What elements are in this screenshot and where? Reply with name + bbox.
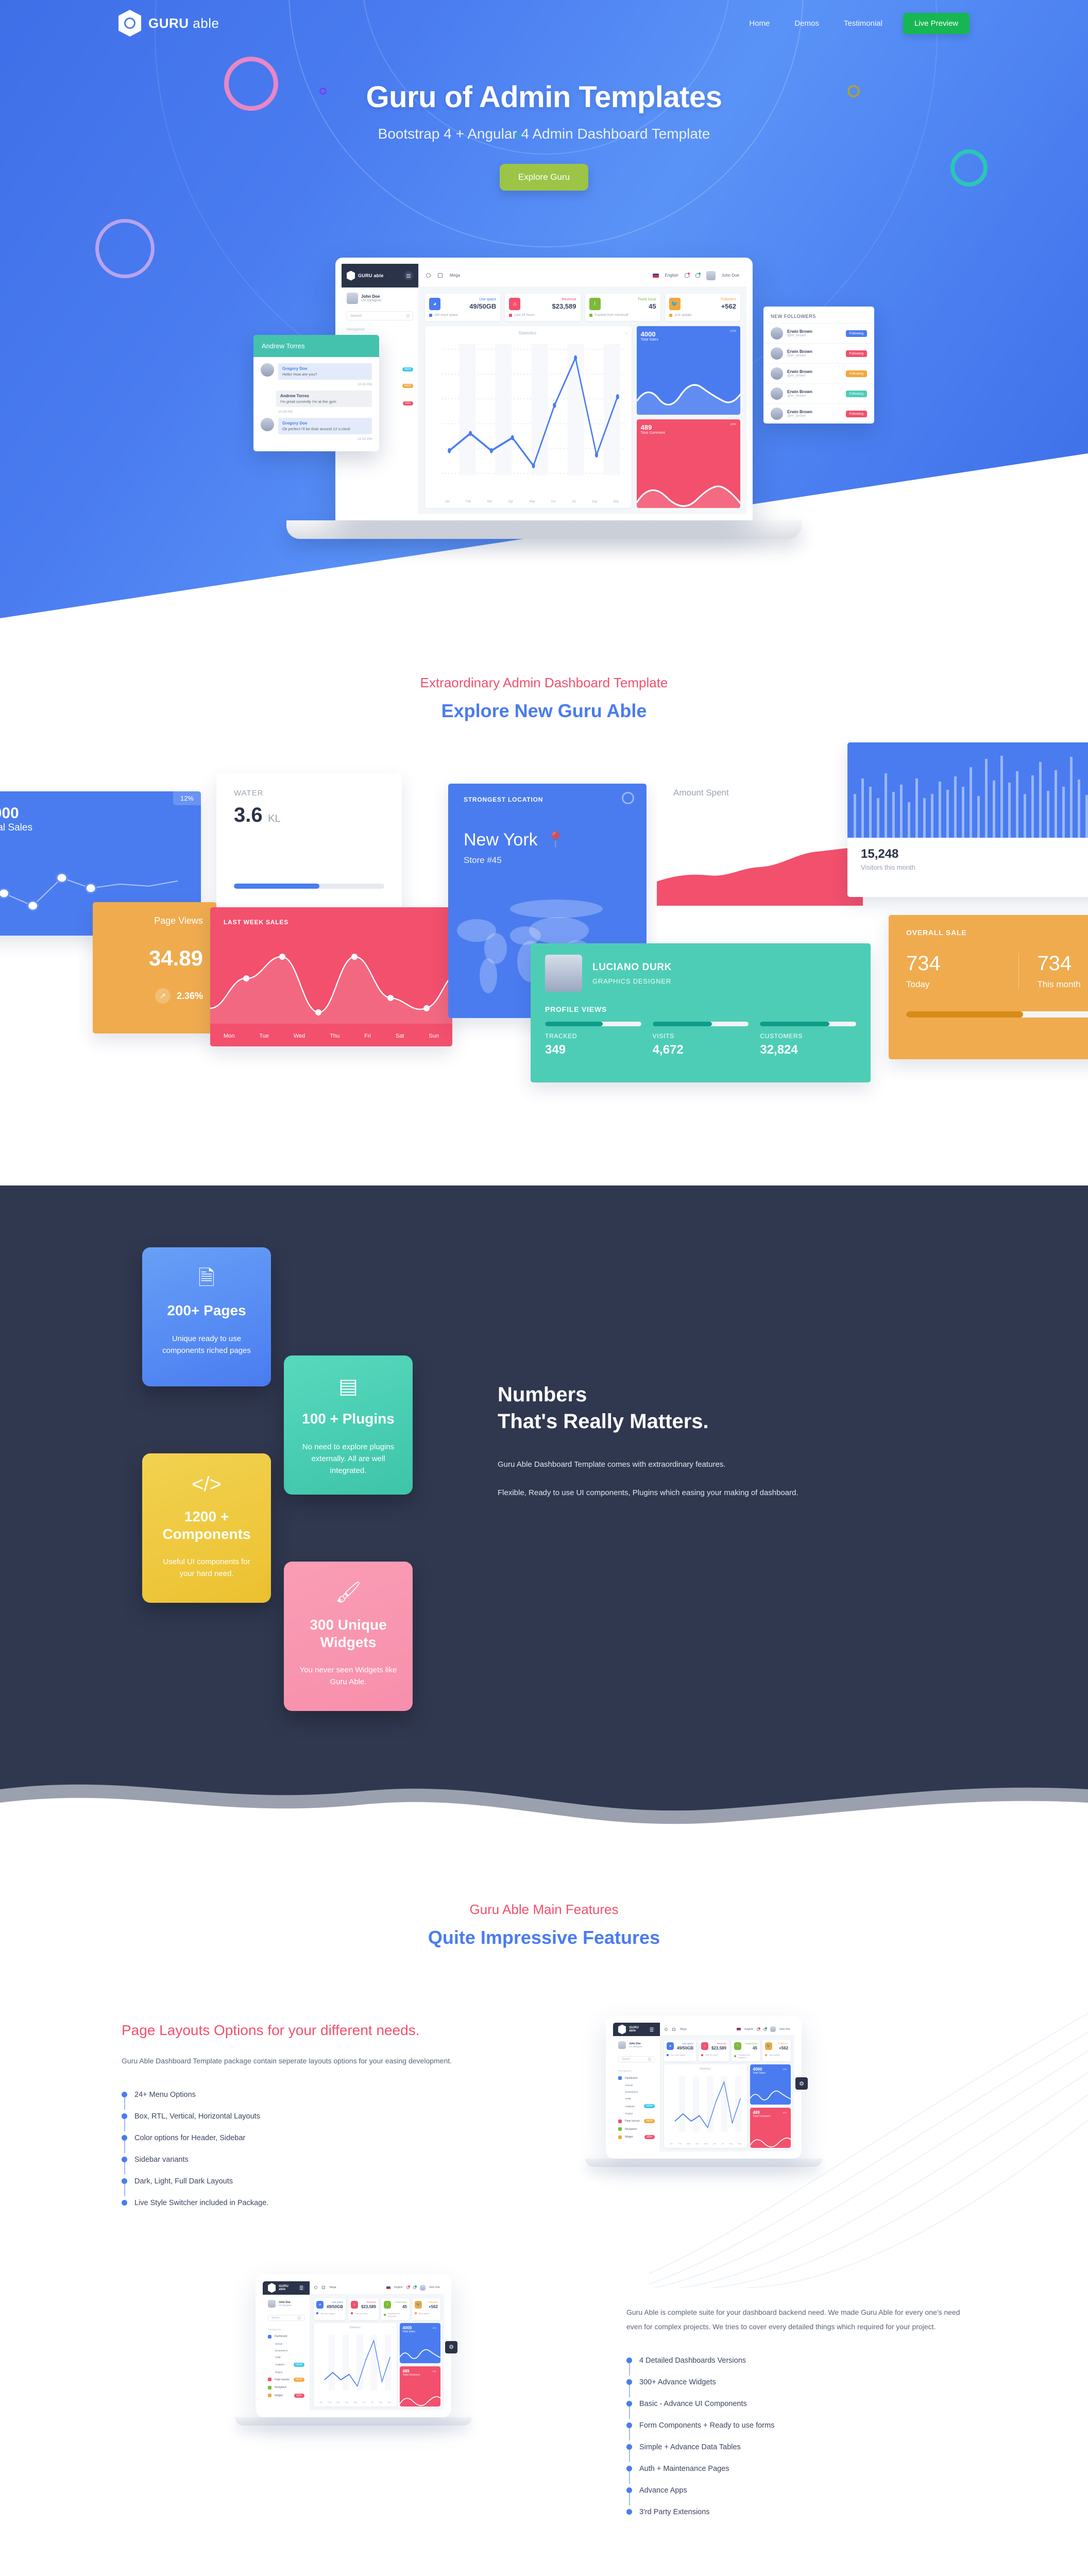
bullet-dot-icon [626,2401,632,2406]
x-tick: Aug [729,2142,733,2145]
refresh-icon[interactable] [622,792,634,804]
wave-divider [0,1742,1088,1845]
feature-block-suite: GURU able John Doe UX Designer Search Na… [122,2274,966,2516]
explore-kicker: Extraordinary Admin Dashboard Template [0,675,1088,691]
chat-widget: Andrew Torres Gregory Doe Hello! How are… [253,335,379,451]
feature-block-1-paragraph: Guru Able Dashboard Template package con… [122,2054,462,2068]
day-tick: Thu [330,1033,339,1039]
dashboard-body: ◕ Use space 49/50GB Get more space [419,287,746,514]
list-item: Color options for Header, Sidebar [122,2134,462,2156]
mega-menu-label[interactable]: Mega [330,2286,336,2289]
feature-block-1-heading: Page Layouts Options for your different … [122,2021,462,2040]
search-icon[interactable] [665,2028,668,2031]
brand-name: GURU able [148,15,219,31]
chat-header: Andrew Torres [253,335,379,357]
sidebar-item-ecommerce[interactable]: Ecommerce [268,2347,304,2354]
chevron-left-icon[interactable]: ‹ [743,2067,744,2071]
badge-new: NEW [644,2119,655,2123]
sidebar-search-input[interactable]: Search [618,2056,655,2062]
overall-sale-today-label: Today [906,979,1018,990]
menu-toggle-icon[interactable] [649,2026,655,2032]
stat-value: $23,589 [361,2304,376,2309]
badge-new: NEW [644,2104,655,2108]
metric-label: TRACKED [545,1032,641,1040]
settings-gear-icon[interactable]: ⚙ [795,2077,808,2090]
badge-count: 100+ [294,2394,304,2398]
chat-text: I'm great currently I'm at the gym [280,399,368,404]
chart-title: Statestics [519,331,537,335]
sidebar-item-page-layouts[interactable]: Page layoutsNEW [268,2376,304,2384]
message-bell-icon[interactable] [763,2028,767,2031]
mini-card-total-sales: 12% 4000 Total Sales [637,326,740,415]
chevron-left-icon[interactable]: ‹ [393,2326,394,2329]
sidebar-search-input[interactable]: Search [268,2315,304,2321]
tablet-mockup-top: GURU able John Doe UX Designer Search Na… [606,2015,802,2159]
stat-foot: Tracked from microsoft [738,2054,757,2059]
list-item: Dark, Light, Full Dark Layouts [122,2177,462,2199]
hero-title: Guru of Admin Templates [0,80,1088,114]
x-tick: May [353,2401,358,2403]
profile-name[interactable]: John Doe [429,2286,440,2289]
language-label[interactable]: English [744,2028,753,2031]
sidebar-item-analytics[interactable]: AnalyticsNEW [268,2361,304,2369]
stat-card-row: ◕ Use space 49/50GB Get more space [425,294,740,321]
sidebar-item-default[interactable]: Default [618,2082,655,2089]
bullet-dot-icon [626,2379,632,2385]
overall-sale-today-value: 734 [906,952,1018,975]
badge-new: NEW [294,2378,304,2382]
sidebar-search-placeholder: Search [271,2316,280,2319]
x-tick: Jul [371,2401,373,2403]
chat-body: Gregory Doe Hello! How are you? 10:45 PM… [253,357,379,451]
sidebar-item-widget[interactable]: Widget100+ [618,2133,655,2141]
day-tick: Sat [396,1033,404,1039]
language-label[interactable]: English [394,2286,402,2289]
follow-button[interactable]: Following [846,370,867,377]
water-unit: KL [268,813,280,824]
dashboard-preview: GURU able John Doe UX Designer Search [342,264,746,514]
hero-section: GURU able Home Demos Testimonial Live Pr… [0,0,1088,639]
follower-row: Erwin Brown @er_brown Following [763,343,874,363]
sidebar-item-dashboard[interactable]: Dashboard [618,2074,655,2082]
metric-progress-bar [653,1022,749,1026]
statistics-chart-card: Statestics‹ [425,326,632,508]
chat-message: Gregory Doe Ok perfect I'll be thair aro… [261,418,372,434]
flag-icon [653,274,659,278]
menu-toggle-icon[interactable] [404,271,413,280]
x-tick: Aug [592,500,598,503]
numbers-card-grid: 🗎 200+ Pages Unique ready to use compone… [122,1247,482,1737]
live-preview-button[interactable]: Live Preview [903,13,970,34]
top-navigation: GURU able Home Demos Testimonial Live Pr… [0,0,1088,46]
avatar [347,293,358,304]
list-item: Box, RTL, Vertical, Horizontal Layouts [122,2112,462,2134]
nav-link-testimonial[interactable]: Testimonial [840,16,887,31]
x-tick: Jan [445,500,450,503]
sidebar-item-widget[interactable]: Widget100+ [268,2392,304,2400]
stat-value: 45 [395,2304,407,2309]
message-bell-icon[interactable] [695,273,700,278]
tablet-base [585,2159,822,2167]
laptop-screen: GURU able John Doe UX Designer Search [335,258,753,520]
overall-sale-month-value: 734 [1038,952,1088,975]
new-followers-title: NEW FOLLOWERS [763,307,874,323]
sidebar-item-crm[interactable]: CRM [618,2095,655,2102]
day-tick: Sun [429,1033,439,1039]
sidebar-search-input[interactable]: Search [347,311,413,320]
badge-new: NEW [294,2363,304,2367]
mini-card-total-comment: 15% 489 Total Comment [637,419,740,508]
fullscreen-icon[interactable] [672,2028,675,2031]
explore-heading-section: Extraordinary Admin Dashboard Template E… [0,639,1088,742]
statistics-line-chart [430,338,627,500]
sidebar-item-default[interactable]: Default [268,2341,304,2347]
mini-card-percent: 15% [432,2370,436,2372]
stat-foot: Just update [419,2312,430,2315]
search-icon[interactable] [314,2286,317,2289]
avatar[interactable] [770,2026,776,2032]
last-week-sales-chart [210,946,452,1024]
list-item-label: Box, RTL, Vertical, Horizontal Layouts [134,2112,260,2121]
stat-foot: Get more space [434,313,458,317]
settings-gear-icon[interactable]: ⚙ [445,2341,457,2353]
stat-foot: Last 24 hours [514,313,534,317]
notification-bell-icon[interactable] [757,2028,760,2031]
page-views-label: Page Views [106,916,203,926]
sidebar-item-label: Dashboard [275,2335,287,2338]
mini-card-label: Total Comment [641,431,736,435]
follow-button[interactable]: Following [846,391,867,397]
features-title: Quite Impressive Features [0,1927,1088,1948]
follower-name: Erwin Brown [787,329,812,334]
new-followers-widget: NEW FOLLOWERS Erwin Brown @er_brown Foll… [763,307,874,423]
avatar [771,327,783,340]
brand-name-bold: GURU [148,15,189,31]
overall-sale-caption: OVERALL SALE [906,928,1088,937]
sidebar-item-dashboard[interactable]: Dashboard [268,2333,304,2341]
sidebar-item-project[interactable]: Project [618,2110,655,2117]
profile-views-caption: PROFILE VIEWS [545,1005,856,1013]
fullscreen-icon[interactable] [322,2286,325,2289]
x-tick: Apr [345,2401,348,2403]
features-section: Guru Able Main Features Quite Impressive… [0,1845,1088,2576]
water-caption: WATER [234,789,384,798]
flag-icon [386,2286,390,2289]
number-card-title: 1200 + Components [156,1508,258,1543]
avatar [261,418,274,431]
sidebar-user[interactable]: John Doe UX Designer [342,287,418,309]
explore-title: Explore New Guru Able [0,700,1088,722]
twitter-icon: 🐦 [415,2301,422,2309]
sidebar-nav-label: Navigation [263,2326,310,2333]
location-city: New York [464,830,538,850]
numbers-section: 🗎 200+ Pages Unique ready to use compone… [0,1185,1088,1845]
profile-name[interactable]: John Doe [722,273,739,278]
bullet-dot-icon [122,2113,127,2119]
stat-foot: Just update [769,2054,780,2056]
home-icon: ⌂ [351,2301,358,2309]
statistics-line-chart [667,2074,744,2142]
mini-card-percent: 15% [783,2111,787,2114]
bullet-dot-icon [122,2092,127,2097]
x-tick: Sep [738,2142,741,2145]
x-tick: Jun [363,2401,366,2403]
hero-laptop-mockup: GURU able John Doe UX Designer Search [335,258,753,539]
list-item-label: Live Style Switcher included in Package. [134,2199,268,2207]
list-item-label: 24+ Menu Options [134,2091,196,2099]
widget-overall-sale: OVERALL SALE 734 Today 734 This month [889,915,1088,1059]
bullet-dot-icon [626,2487,632,2493]
badge-count: 100+ [644,2135,655,2139]
mini-card-value: 4000 [641,330,736,338]
stat-value: 45 [638,302,656,310]
overall-sale-progress-bar [906,1011,1088,1018]
sidebar-item-label: Ecommerce [625,2091,638,2093]
last-week-sales-days: Mon Tue Wed Thu Fri Sat Sun [224,1033,439,1039]
menu-toggle-icon[interactable] [299,2285,304,2291]
profile-role: GRAPHICS DESIGNER [592,977,672,985]
mini-card-label: Total Sales [753,2072,788,2075]
chat-bubble: Gregory Doe Ok perfect I'll be thair aro… [278,418,372,434]
day-tick: Mon [224,1033,234,1039]
sparkline [637,467,740,508]
mini-card-label: Total Sales [402,2330,438,2333]
flag-icon [737,2028,741,2030]
pie-chart-icon: ◕ [667,2042,674,2050]
chevron-left-icon[interactable]: ‹ [625,331,627,335]
follower-handle: @er_brown [787,374,812,378]
avatar[interactable] [420,2285,426,2291]
sidebar-user-role: UX Designer [629,2045,642,2048]
x-tick: Jul [572,500,576,503]
trend-up-icon: ↗ [155,988,171,1004]
feature-block-2-copy: Guru Able is complete suite for your das… [606,2274,966,2516]
sidebar-item-label: Ecommerce [275,2349,288,2352]
stat-foot: Get more space [320,2312,335,2315]
x-tick: Jan [670,2142,673,2145]
mini-card-percent: 12% [783,2068,787,2071]
number-card-widgets: 🖌 300 Unique Widgets You never seen Widg… [284,1562,413,1711]
list-item: Live Style Switcher included in Package. [122,2199,462,2207]
stat-label: Fixed issue [395,2301,407,2303]
bullet-dot-icon [122,2200,127,2206]
sidebar-nav-label: Navigation [342,326,418,333]
sidebar-search-placeholder: Search [350,314,362,318]
number-card-title: 300 Unique Widgets [297,1616,399,1651]
sidebar-item-label: Navigation [275,2386,287,2389]
x-tick: Feb [328,2401,331,2403]
follow-button[interactable]: Following [846,330,867,337]
code-icon: </> [156,1474,258,1495]
sidebar-item-analytics[interactable]: AnalyticsNEW [618,2102,655,2110]
list-item: Form Components + Ready to use forms [626,2421,966,2443]
dashboard-topbar: Mega English John Doe [419,264,746,287]
list-item-label: Dark, Light, Full Dark Layouts [134,2177,233,2185]
search-icon [406,314,410,317]
page-views-value: 34.89 [106,946,203,971]
number-card-plugins: ▤ 100 + Plugins No need to explore plugi… [284,1355,413,1495]
x-tick: Feb [678,2142,682,2145]
sidebar-item-label: Widget [275,2394,283,2397]
list-item: Sidebar variants [122,2156,462,2177]
notification-bell-icon[interactable] [685,273,689,278]
sidebar-user-role: UX Designer [279,2304,292,2307]
chat-sender: Gregory Doe [282,421,368,426]
hero-subtitle: Bootstrap 4 + Angular 4 Admin Dashboard … [0,126,1088,142]
mini-card-label: Total Sales [641,338,736,342]
sidebar-item-navigation[interactable]: Navigation [268,2384,304,2392]
x-tick: Jun [551,500,556,503]
chat-bubble: Gregory Doe Hello! How are you? [278,363,372,380]
list-item-label: Simple + Advance Data Tables [639,2443,741,2451]
search-icon[interactable] [426,273,431,278]
x-tick: Sep [387,2401,391,2403]
follower-handle: @er_brown [787,334,812,337]
bullet-dot-icon [626,2509,632,2515]
chat-sender: Andrew Torres [280,394,368,398]
laptop-base [286,520,802,539]
avatar [771,367,783,380]
brand-logo[interactable]: GURU able [118,10,219,37]
map-pin-icon: 📍 [546,831,565,849]
chat-text: Ok perfect I'll be thair around 12 o,clo… [282,427,368,431]
explore-guru-button[interactable]: Explore Guru [500,164,588,191]
sidebar-logo-text: GURU able [358,273,384,278]
chat-text: Hello! How are you? [282,372,368,377]
list-item: Simple + Advance Data Tables [626,2443,966,2465]
mega-menu-label[interactable]: Mega [680,2028,687,2031]
sidebar-item-label: Project [275,2371,282,2374]
stat-label: Fixed issue [638,298,656,301]
profile-metrics: TRACKED 349 VISITS 4,672 CUSTOMERS 32,82… [545,1022,856,1057]
visitors-value: 15,248 [861,847,915,861]
bullet-dot-icon [626,2466,632,2471]
follower-name: Erwin Brown [787,369,812,374]
list-item-label: Form Components + Ready to use forms [639,2421,774,2430]
follow-button[interactable]: Following [846,350,867,357]
message-bell-icon[interactable] [413,2286,416,2289]
bullet-dot-icon [626,2444,632,2450]
stat-foot: Tracked from microsoft [388,2312,407,2317]
visitors-bar-chart [847,742,1088,838]
profile-name[interactable]: John Doe [779,2028,790,2031]
hexagon-logo-icon [118,10,141,37]
hexagon-logo-icon [268,2283,276,2293]
follower-row: Erwin Brown @er_brown Following [763,363,874,383]
fullscreen-icon[interactable] [438,273,443,278]
stat-label: Revenue [361,2301,376,2303]
chat-message: Andrew Torres I'm great currently I'm at… [261,391,372,407]
stat-label: Followers [721,298,736,301]
stat-label: Revenue [552,298,576,301]
follower-handle: @er_brown [787,354,812,358]
x-tick: Apr [508,500,513,503]
stat-value: 49/50GB [469,302,496,310]
mega-menu-label[interactable]: Mega [450,273,460,278]
topbar-right: English John Doe [653,271,740,280]
total-sales-label: Total Sales [0,822,185,834]
number-card-desc: Unique ready to use components riched pa… [156,1333,258,1357]
metric-value: 32,824 [760,1043,856,1057]
alert-icon: ! [384,2301,391,2309]
last-week-sales-caption: LAST WEEK SALES [224,919,439,926]
stat-card-use-space: ◕ Use space 49/50GB Get more space [425,294,500,321]
x-tick: Feb [466,500,471,503]
sparkline [637,374,740,415]
amount-spent-area-chart [657,846,863,906]
list-item-label: 4 Detailed Dashboards Versions [639,2357,746,2365]
feature-block-1-list: 24+ Menu Options Box, RTL, Vertical, Hor… [122,2091,462,2207]
list-item-label: Auth + Maintenance Pages [639,2465,729,2473]
feature-block-layouts: Page Layouts Options for your different … [122,2005,966,2207]
follower-name: Erwin Brown [787,389,812,394]
sidebar-item-label: CRM [275,2356,280,2359]
list-item: 3'rd Party Extensions [626,2508,966,2516]
sidebar-item-page-layouts[interactable]: Page layoutsNEW [618,2117,655,2125]
bullet-dot-icon [122,2157,127,2162]
notification-bell-icon[interactable] [406,2286,410,2289]
stat-foot: Tracked from microsoft [594,313,628,317]
language-label[interactable]: English [665,273,678,278]
mini-card-value: 489 [641,423,736,431]
follower-row: Erwin Brown @er_brown Following [763,403,874,423]
sidebar-item-crm[interactable]: CRM [268,2354,304,2361]
sidebar-item-project[interactable]: Project [268,2369,304,2376]
stat-foot: Last 24 hours [355,2312,367,2315]
sidebar-nav-label: Navigation [613,2067,660,2074]
sidebar-item-label: Analytics [275,2363,284,2366]
nav-link-home[interactable]: Home [745,16,774,31]
hero-copy: Guru of Admin Templates Bootstrap 4 + An… [0,80,1088,191]
sidebar-logo-text: GURU able [279,2285,295,2291]
list-item: Auth + Maintenance Pages [626,2465,966,2486]
sidebar-logo-bar: GURU able [342,264,418,287]
sidebar-item-ecommerce[interactable]: Ecommerce [618,2089,655,2095]
sidebar-item-navigation[interactable]: Navigation [618,2125,655,2133]
metric-label: CUSTOMERS [760,1032,856,1040]
number-card-desc: No need to explore plugins externally. A… [297,1441,399,1477]
list-item-label: Basic - Advance UI Components [639,2400,747,2408]
pie-chart-icon: ◕ [429,298,440,310]
avatar[interactable] [706,271,716,280]
stat-value: $23,589 [711,2046,726,2050]
water-progress-bar [234,884,384,889]
stat-value: +562 [721,302,736,310]
follow-button[interactable]: Following [846,411,867,417]
x-tick: Sep [613,500,619,503]
feature-block-1-copy: Page Layouts Options for your different … [122,2005,462,2207]
tablet-base [235,2417,472,2426]
bullet-dot-icon [626,2422,632,2428]
chat-time: 10:45 PM [261,383,372,386]
statistics-line-chart [317,2332,394,2401]
sidebar-item-label: Default [625,2084,633,2087]
sidebar-user-name: John Doe [361,294,382,299]
stat-value: 45 [745,2046,757,2050]
follower-handle: @er_brown [787,414,812,418]
nav-link-demos[interactable]: Demos [790,16,823,31]
bullet-dot-icon [122,2135,127,2141]
chart-title: Statestics [700,2067,711,2071]
widget-showcase-section: 12% 4000 Total Sales WATER 3.6 KL Page V… [0,742,1088,1185]
sidebar-user-role: UX Designer [361,299,382,302]
hexagon-logo-icon [347,271,355,281]
list-item: 24+ Menu Options [122,2091,462,2112]
avatar [261,363,274,377]
stat-value: +562 [778,2046,788,2050]
home-icon: ⌂ [509,298,520,310]
pie-chart-icon: ◕ [316,2301,324,2309]
